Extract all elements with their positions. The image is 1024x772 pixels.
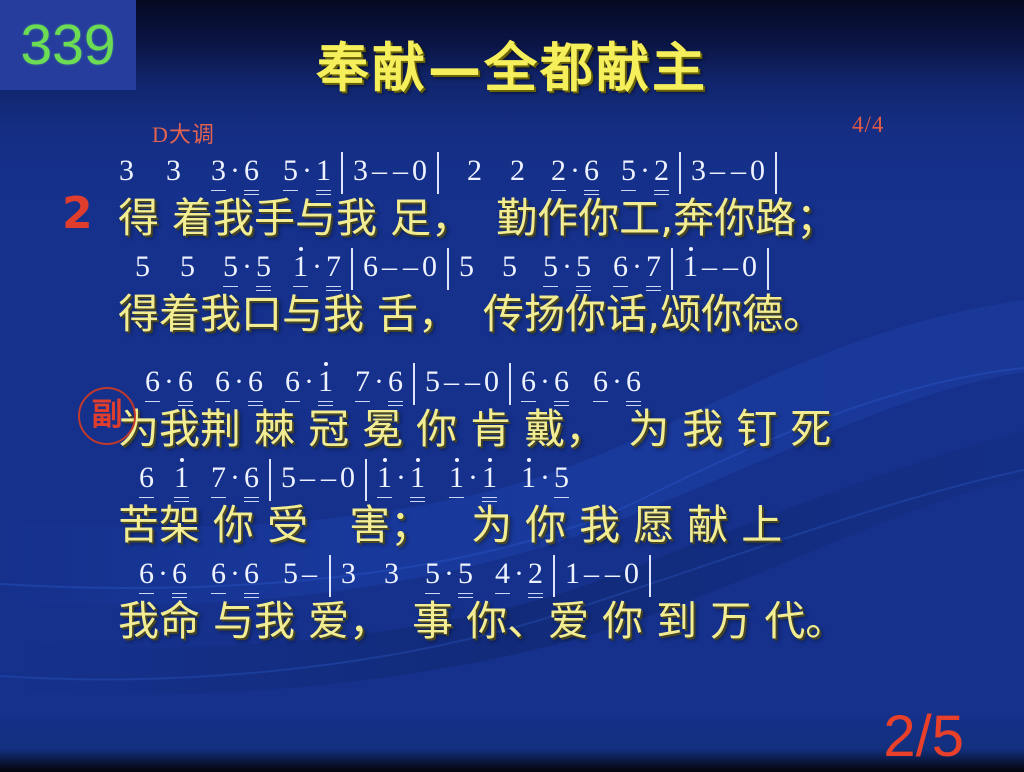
note: 1 (682, 252, 699, 292)
music-system-3: 副 6 · 6 6 · 6 6 · 1 7 · 6 5 – (0, 361, 1024, 451)
barline (329, 555, 331, 597)
barline (365, 459, 367, 501)
final-double-barline (649, 555, 651, 597)
lyric-segment: 得 着我手与我 足， (118, 196, 472, 240)
lyric-segment: 为 我 钉 死 (628, 407, 831, 451)
note: 3 (690, 156, 707, 196)
note: 5 (458, 252, 475, 292)
rhythm-dot: · (511, 559, 527, 599)
barline (351, 248, 353, 290)
sustain-dash: – (707, 156, 728, 196)
rest: 0 (623, 559, 640, 599)
rhythm-dot: · (441, 559, 457, 599)
lyric-row-3: 为我荆 棘 冠 冕 你 肯 戴， 为 我 钉 死 (0, 407, 1024, 451)
note: 6 (362, 252, 379, 292)
lyric-segment: 为我荆 棘 冠 冕 你 肯 戴， (118, 407, 606, 451)
rest: 0 (411, 156, 428, 196)
sustain-dash: – (462, 367, 483, 407)
note: 5 (575, 252, 592, 292)
note: 6 (138, 463, 155, 503)
note: 6 (247, 367, 264, 407)
note: 1 (376, 463, 393, 503)
note: 3 (340, 559, 357, 599)
note: 5 (553, 463, 570, 503)
note: 3 (383, 559, 400, 599)
sustain-dash: – (297, 463, 318, 503)
note: 4 (494, 559, 511, 599)
rhythm-dot: · (299, 156, 315, 196)
verse-number-marker: 2 (62, 192, 93, 236)
note: 5 (255, 252, 272, 292)
rhythm-dot: · (161, 367, 177, 407)
note: 3 (165, 156, 182, 196)
note: 1 (315, 156, 332, 196)
note: 5 (282, 156, 299, 196)
sustain-dash: – (602, 559, 623, 599)
note: 7 (354, 367, 371, 407)
barline (553, 555, 555, 597)
note: 5 (501, 252, 518, 292)
page-indicator: 2/5 (883, 708, 964, 766)
lyric-segment: 为 你 我 愿 献 上 (471, 503, 782, 547)
lyric-row-2: 得着我口与我 舌， 传扬你话,颂你德。 (0, 292, 1024, 336)
rest: 0 (749, 156, 766, 196)
note: 6 (138, 559, 155, 599)
sustain-dash: – (299, 559, 320, 599)
note: 6 (520, 367, 537, 407)
barline (437, 152, 439, 194)
note: 6 (243, 463, 260, 503)
note: 7 (325, 252, 342, 292)
note: 5 (134, 252, 151, 292)
note: 3 (210, 156, 227, 196)
lyric-segment: 我命 与我 爱， (118, 599, 390, 643)
barline (269, 459, 271, 501)
notation-row-1: 3 3 3 · 6 5 · 1 3 – – 0 2 2 (0, 150, 1024, 196)
rest: 0 (483, 367, 500, 407)
note: 5 (457, 559, 474, 599)
music-system-4: 6 1 7 · 6 5 – – 0 1 · 1 1 · 1 (0, 457, 1024, 547)
rhythm-dot: · (239, 252, 255, 292)
lyric-segment: 苦架 你 受 害； (118, 503, 431, 547)
note: 6 (243, 156, 260, 196)
rhythm-dot: · (301, 367, 317, 407)
note: 1 (292, 252, 309, 292)
notation-row-4: 6 1 7 · 6 5 – – 0 1 · 1 1 · 1 (0, 457, 1024, 503)
sustain-dash: – (390, 156, 411, 196)
note: 2 (653, 156, 670, 196)
sustain-dash: – (400, 252, 421, 292)
note: 3 (352, 156, 369, 196)
note: 5 (620, 156, 637, 196)
note: 6 (387, 367, 404, 407)
note: 1 (173, 463, 190, 503)
note: 6 (214, 367, 231, 407)
rhythm-dot: · (567, 156, 583, 196)
barline (447, 248, 449, 290)
note: 6 (625, 367, 642, 407)
chorus-marker: 副 (78, 387, 136, 445)
note: 7 (645, 252, 662, 292)
note: 6 (144, 367, 161, 407)
rest: 0 (339, 463, 356, 503)
notation-row-2: 5 5 5 · 5 1 · 7 6 – – 0 5 5 (0, 246, 1024, 292)
rhythm-dot: · (609, 367, 625, 407)
lyric-row-5: 我命 与我 爱， 事 你、爱 你 到 万 代。 (0, 599, 1024, 643)
sustain-dash: – (720, 252, 741, 292)
time-signature-label: 4/4 (852, 112, 884, 138)
note: 2 (527, 559, 544, 599)
note: 1 (564, 559, 581, 599)
rest: 0 (741, 252, 758, 292)
lyric-row-4: 苦架 你 受 害； 为 你 我 愿 献 上 (0, 503, 1024, 547)
note: 5 (179, 252, 196, 292)
note: 1 (448, 463, 465, 503)
rhythm-dot: · (629, 252, 645, 292)
note: 5 (542, 252, 559, 292)
music-system-2: 5 5 5 · 5 1 · 7 6 – – 0 5 5 (0, 246, 1024, 336)
note: 6 (171, 559, 188, 599)
rhythm-dot: · (227, 463, 243, 503)
note: 5 (282, 559, 299, 599)
music-notation-body: 2 3 3 3 · 6 5 · 1 3 – – 0 2 (0, 150, 1024, 649)
note: 6 (210, 559, 227, 599)
note: 6 (583, 156, 600, 196)
barline (341, 152, 343, 194)
lyric-segment: 事 你、爱 你 到 万 代。 (412, 599, 846, 643)
rhythm-dot: · (227, 156, 243, 196)
note: 5 (424, 367, 441, 407)
barline (679, 152, 681, 194)
note: 5 (424, 559, 441, 599)
note: 6 (592, 367, 609, 407)
note: 1 (409, 463, 426, 503)
rhythm-dot: · (637, 156, 653, 196)
lyric-row-1: 得 着我手与我 足， 勤作你工,奔你路； (0, 196, 1024, 240)
rest: 0 (421, 252, 438, 292)
page-title: 奉献—全都献主 (0, 26, 1024, 102)
barline (413, 363, 415, 405)
rhythm-dot: · (371, 367, 387, 407)
key-signature-label: D大调 (152, 117, 215, 149)
sustain-dash: – (379, 252, 400, 292)
note: 3 (118, 156, 135, 196)
note: 5 (222, 252, 239, 292)
slide-canvas: 339 奉献—全都献主 D大调 4/4 2 3 3 3 · 6 5 · 1 3 (0, 0, 1024, 772)
note: 6 (284, 367, 301, 407)
sustain-dash: – (728, 156, 749, 196)
rhythm-dot: · (465, 463, 481, 503)
barline (671, 248, 673, 290)
notation-row-5: 6 · 6 6 · 6 5 – 3 3 5 · 5 4 · (0, 553, 1024, 599)
note: 2 (550, 156, 567, 196)
sustain-dash: – (318, 463, 339, 503)
note: 1 (481, 463, 498, 503)
lyric-segment: 勤作你工,奔你路； (496, 196, 837, 240)
note: 2 (466, 156, 483, 196)
music-system-1: 2 3 3 3 · 6 5 · 1 3 – – 0 2 (0, 150, 1024, 240)
rhythm-dot: · (231, 367, 247, 407)
note: 2 (509, 156, 526, 196)
rhythm-dot: · (537, 367, 553, 407)
sustain-dash: – (699, 252, 720, 292)
note: 5 (280, 463, 297, 503)
lyric-segment: 传扬你话,颂你德。 (483, 292, 824, 336)
barline (509, 363, 511, 405)
note: 6 (612, 252, 629, 292)
rhythm-dot: · (537, 463, 553, 503)
rhythm-dot: · (559, 252, 575, 292)
sustain-dash: – (441, 367, 462, 407)
rhythm-dot: · (393, 463, 409, 503)
rhythm-dot: · (309, 252, 325, 292)
sustain-dash: – (369, 156, 390, 196)
note: 6 (553, 367, 570, 407)
lyric-segment: 得着我口与我 舌， (118, 292, 459, 336)
note: 6 (177, 367, 194, 407)
rhythm-dot: · (227, 559, 243, 599)
note: 1 (317, 367, 334, 407)
music-system-5: 6 · 6 6 · 6 5 – 3 3 5 · 5 4 · (0, 553, 1024, 643)
note: 6 (243, 559, 260, 599)
note: 1 (520, 463, 537, 503)
notation-row-3: 6 · 6 6 · 6 6 · 1 7 · 6 5 – – 0 (0, 361, 1024, 407)
note: 7 (210, 463, 227, 503)
barline (775, 152, 777, 194)
barline (767, 248, 769, 290)
rhythm-dot: · (155, 559, 171, 599)
sustain-dash: – (581, 559, 602, 599)
